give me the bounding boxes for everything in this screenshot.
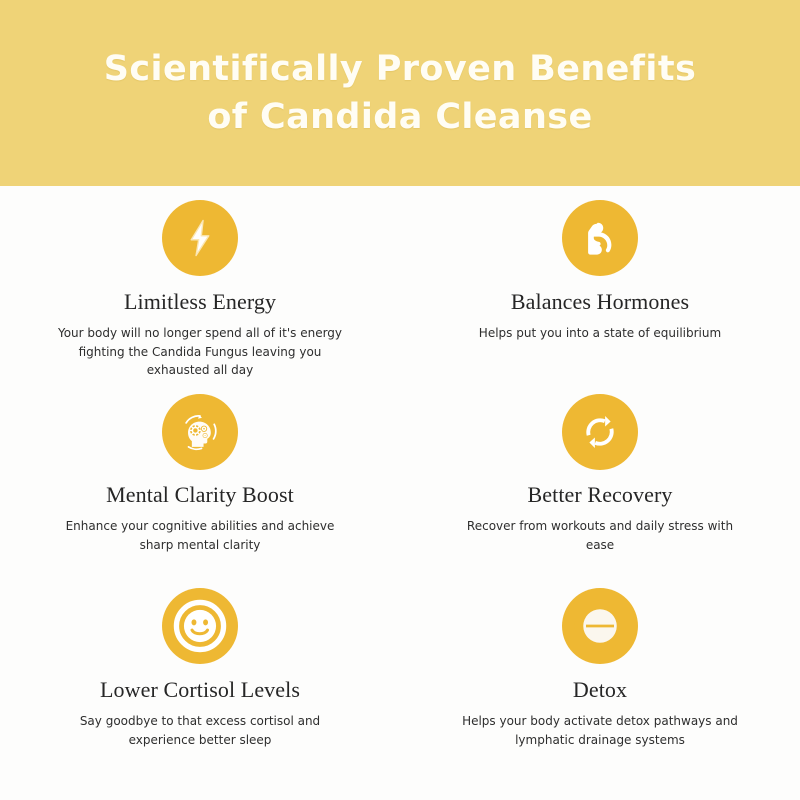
benefit-title: Limitless Energy <box>124 289 276 315</box>
page-title: Scientifically Proven Benefits of Candid… <box>104 45 696 142</box>
benefit-description: Helps put you into a state of equilibriu… <box>479 324 721 343</box>
infographic-page: Scientifically Proven Benefits of Candid… <box>0 0 800 800</box>
benefit-item-limitless-energy: Limitless Energy Your body will no longe… <box>0 200 400 394</box>
benefit-title: Better Recovery <box>527 482 672 508</box>
benefit-description: Recover from workouts and daily stress w… <box>455 517 745 554</box>
benefit-title: Mental Clarity Boost <box>106 482 294 508</box>
head-with-gears-icon <box>162 394 238 470</box>
benefit-description: Helps your body activate detox pathways … <box>455 712 745 749</box>
benefits-grid: Limitless Energy Your body will no longe… <box>0 186 800 800</box>
benefit-item-mental-clarity-boost: Mental Clarity Boost Enhance your cognit… <box>0 394 400 588</box>
benefit-title: Lower Cortisol Levels <box>100 677 300 703</box>
benefit-description: Your body will no longer spend all of it… <box>55 324 345 380</box>
flexed-bicep-icon <box>562 200 638 276</box>
page-title-line-1: Scientifically Proven Benefits <box>104 45 696 93</box>
smiley-face-icon <box>162 588 238 664</box>
benefit-title: Detox <box>573 677 627 703</box>
benefit-description: Enhance your cognitive abilities and ach… <box>55 517 345 554</box>
circular-arrows-refresh-icon <box>562 394 638 470</box>
header-banner: Scientifically Proven Benefits of Candid… <box>0 0 800 186</box>
benefit-title: Balances Hormones <box>511 289 689 315</box>
benefit-description: Say goodbye to that excess cortisol and … <box>55 712 345 749</box>
benefit-item-balances-hormones: Balances Hormones Helps put you into a s… <box>400 200 800 394</box>
benefit-item-lower-cortisol-levels: Lower Cortisol Levels Say goodbye to tha… <box>0 588 400 782</box>
lightning-bolt-icon <box>162 200 238 276</box>
benefit-item-better-recovery: Better Recovery Recover from workouts an… <box>400 394 800 588</box>
page-title-line-2: of Candida Cleanse <box>104 93 696 141</box>
pill-tablet-ring-icon <box>562 588 638 664</box>
benefit-item-detox: Detox Helps your body activate detox pat… <box>400 588 800 782</box>
